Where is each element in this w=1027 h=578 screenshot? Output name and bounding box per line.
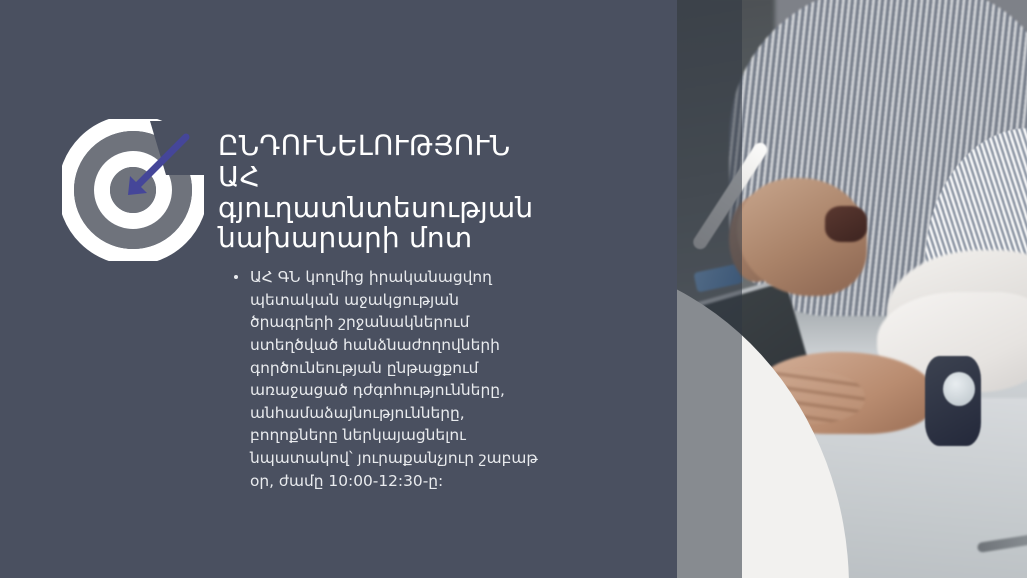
- photo-dark-veil: [677, 0, 742, 578]
- people-working-at-desk-photo: [677, 0, 1027, 578]
- wrist-bracelet: [825, 206, 867, 242]
- content-panel: ԸՆԴՈՒՆԵԼՈՒԹՅՈՒՆ ԱՀ գյուղատնտեսության նախ…: [0, 0, 677, 578]
- slide-title: ԸՆԴՈՒՆԵԼՈՒԹՅՈՒՆ ԱՀ գյուղատնտեսության նախ…: [218, 131, 548, 254]
- wristwatch-face: [943, 372, 975, 406]
- target-bullseye-icon: [62, 119, 204, 261]
- list-item: ԱՀ ԳՆ կողմից իրականացվող պետական աջակցու…: [232, 266, 538, 492]
- bullet-list: ԱՀ ԳՆ կողմից իրականացվող պետական աջակցու…: [232, 266, 538, 492]
- presentation-slide: ԸՆԴՈՒՆԵԼՈՒԹՅՈՒՆ ԱՀ գյուղատնտեսության նախ…: [0, 0, 1027, 578]
- photo-panel: [677, 0, 1027, 578]
